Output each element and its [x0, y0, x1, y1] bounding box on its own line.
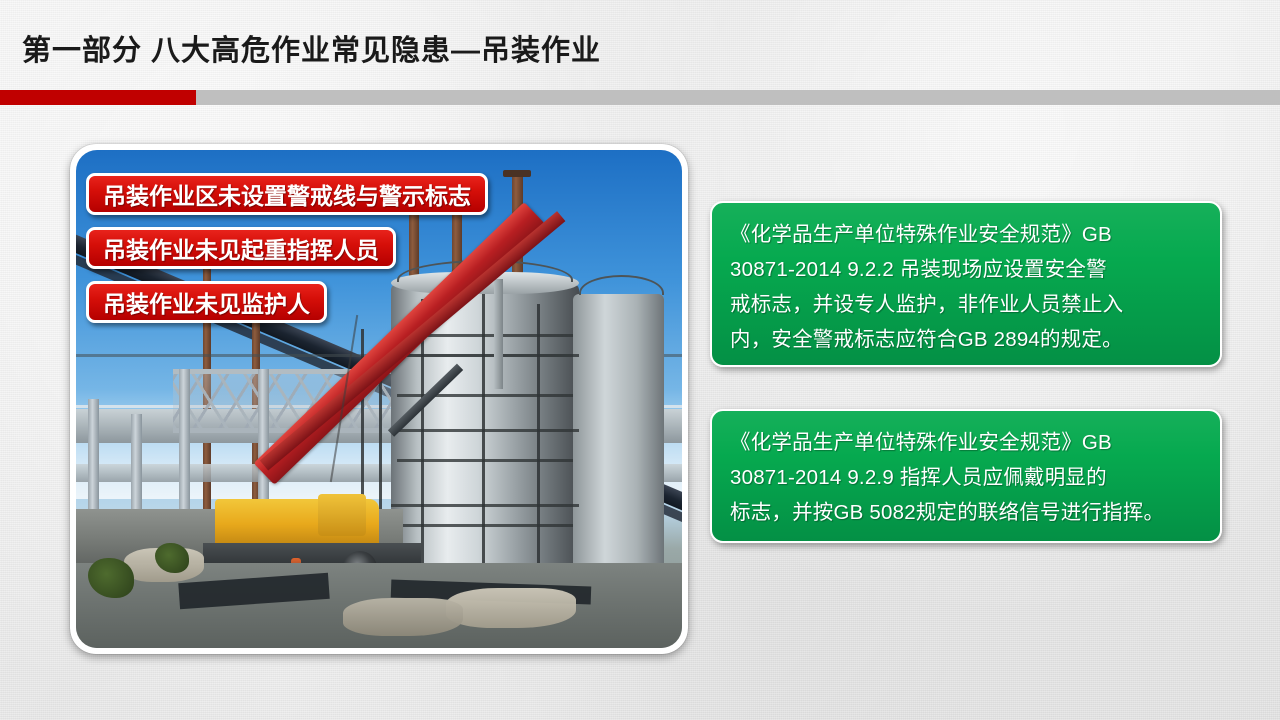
divider-red-accent: [0, 90, 196, 105]
regulation-line: 内，安全警戒标志应符合GB 2894的规定。: [730, 322, 1202, 357]
regulation-line: 《化学品生产单位特殊作业安全规范》GB: [730, 425, 1202, 460]
regulation-line: 标志，并按GB 5082规定的联络信号进行指挥。: [730, 495, 1202, 530]
scaffold-pole: [537, 304, 540, 583]
regulation-line: 戒标志，并设专人监护，非作业人员禁止入: [730, 287, 1202, 322]
regulation-line: 30871-2014 9.2.2 吊装现场应设置安全警: [730, 252, 1202, 287]
tank-band: [391, 504, 579, 507]
finding-text: 吊装作业区未设置警戒线与警示标志: [103, 177, 471, 211]
tank-band: [391, 429, 579, 432]
regulation-line: 《化学品生产单位特殊作业安全规范》GB: [730, 217, 1202, 252]
regulation-card-1[interactable]: 《化学品生产单位特殊作业安全规范》GB 30871-2014 9.2.2 吊装现…: [710, 201, 1222, 367]
storage-tank-right: [573, 294, 664, 593]
finding-callout-1[interactable]: 吊装作业区未设置警戒线与警示标志: [86, 173, 488, 215]
regulation-card-2[interactable]: 《化学品生产单位特殊作业安全规范》GB 30871-2014 9.2.9 指挥人…: [710, 409, 1222, 543]
finding-callout-2[interactable]: 吊装作业未见起重指挥人员: [86, 227, 396, 269]
rubble-pile: [446, 588, 576, 628]
gantry-post: [258, 369, 269, 498]
tank-pipe-riser: [494, 279, 503, 389]
scaffold-pole: [421, 299, 424, 588]
photo-frame: [70, 144, 688, 654]
tank-band: [391, 354, 579, 357]
title-bar: 第一部分 八大高危作业常见隐患—吊装作业: [0, 0, 1280, 86]
scaffold-pole: [482, 294, 485, 588]
gantry-post: [179, 369, 190, 508]
finding-callout-3[interactable]: 吊装作业未见监护人: [86, 281, 327, 323]
scaffold-ledger: [397, 459, 573, 462]
finding-text: 吊装作业未见监护人: [103, 285, 310, 319]
tank-right-railing: [579, 275, 664, 295]
gravel-pile: [343, 598, 463, 636]
column-cap: [503, 170, 531, 177]
regulation-line: 30871-2014 9.2.9 指挥人员应佩戴明显的: [730, 460, 1202, 495]
site-photo: [76, 150, 682, 648]
slide-canvas: 第一部分 八大高危作业常见隐患—吊装作业: [0, 0, 1280, 720]
crane-cab: [318, 494, 366, 536]
page-title: 第一部分 八大高危作业常见隐患—吊装作业: [22, 27, 601, 69]
scaffold-ledger: [397, 524, 573, 527]
finding-text: 吊装作业未见起重指挥人员: [103, 231, 379, 265]
